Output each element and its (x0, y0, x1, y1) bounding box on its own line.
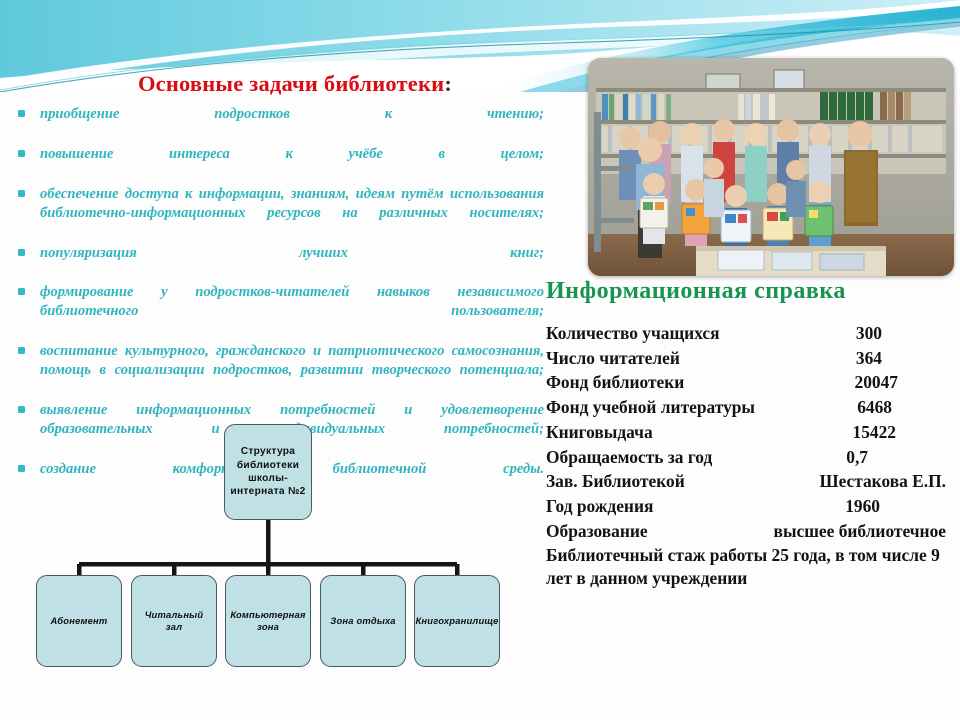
row-value: 20047 (855, 370, 898, 395)
table-row: Фонд учебной литературы 6468 (546, 395, 954, 420)
bullet-diamond-icon (18, 288, 25, 295)
row-label: Зав. Библиотекой (546, 469, 685, 494)
table-row: Число читателей 364 (546, 346, 954, 371)
list-item-text: приобщение подростков к чтению; (40, 106, 544, 122)
org-node-rest-zone[interactable]: Зона отдыха (320, 575, 406, 667)
org-node-computer-zone[interactable]: Компьютерная зона (225, 575, 311, 667)
row-label: Фонд учебной литературы (546, 395, 755, 420)
row-value: 6468 (857, 395, 892, 420)
row-value: 1960 (845, 494, 880, 519)
info-panel-title: Информационная справка (546, 278, 954, 305)
list-item: повышение интереса к учёбе в целом; (8, 145, 544, 183)
row-label: Число читателей (546, 346, 680, 371)
photo-illustration-icon (588, 58, 954, 276)
table-row: Зав. Библиотекой Шестакова Е.П. (546, 469, 954, 494)
bullet-diamond-icon (18, 190, 25, 197)
table-row: Количество учащихся 300 (546, 321, 954, 346)
list-item-text: обеспечение доступа к информации, знания… (40, 186, 544, 221)
row-value: 0,7 (846, 445, 868, 470)
list-item-text: популяризация лучших книг; (40, 245, 544, 261)
row-value: 300 (856, 321, 882, 346)
bullet-diamond-icon (18, 110, 25, 117)
info-panel: Информационная справка Количество учащих… (546, 278, 954, 589)
row-label: Обращаемость за год (546, 445, 712, 470)
bullet-diamond-icon (18, 150, 25, 157)
table-row: Образование высшее библиотечное (546, 519, 954, 544)
org-node-book-storage[interactable]: Книгохранилище (414, 575, 500, 667)
table-row: Год рождения 1960 (546, 494, 954, 519)
row-value: Шестакова Е.П. (819, 469, 954, 494)
library-group-photo (588, 58, 954, 276)
org-node-root[interactable]: Структура библиотеки школы-интерната №2 (224, 424, 312, 520)
org-node-reading-hall[interactable]: Читальный зал (131, 575, 217, 667)
list-item: обеспечение доступа к информации, знания… (8, 185, 544, 242)
table-row: Фонд библиотеки 20047 (546, 370, 954, 395)
page-title-text: Основные задачи библиотеки (138, 71, 444, 96)
list-item: формирование у подростков-читателей навы… (8, 283, 544, 340)
page-title-colon: : (444, 71, 452, 96)
org-chart: Структура библиотеки школы-интерната №2 … (0, 424, 560, 694)
row-label: Год рождения (546, 494, 653, 519)
list-item-text: повышение интереса к учёбе в целом; (40, 146, 544, 162)
bullet-diamond-icon (18, 347, 25, 354)
row-value: 15422 (853, 420, 896, 445)
bullet-diamond-icon (18, 249, 25, 256)
row-value: высшее библиотечное (774, 519, 954, 544)
list-item: приобщение подростков к чтению; (8, 105, 544, 143)
bullet-diamond-icon (18, 406, 25, 413)
list-item-text: формирование у подростков-читателей навы… (40, 284, 544, 319)
list-item: популяризация лучших книг; (8, 244, 544, 282)
table-row: Книговыдача 15422 (546, 420, 954, 445)
page-title: Основные задачи библиотеки: (34, 72, 556, 97)
slide-canvas: Основные задачи библиотеки: приобщение п… (0, 0, 960, 720)
row-label: Количество учащихся (546, 321, 720, 346)
list-item: воспитание культурного, гражданского и п… (8, 342, 544, 399)
row-label: Фонд библиотеки (546, 370, 684, 395)
list-item-text: воспитание культурного, гражданского и п… (40, 343, 544, 378)
org-node-abonement[interactable]: Абонемент (36, 575, 122, 667)
table-row: Обращаемость за год 0,7 (546, 445, 954, 470)
row-label: Образование (546, 519, 648, 544)
info-note: Библиотечный стаж работы 25 года, в том … (546, 544, 954, 589)
row-value: 364 (856, 346, 882, 371)
row-label: Книговыдача (546, 420, 653, 445)
